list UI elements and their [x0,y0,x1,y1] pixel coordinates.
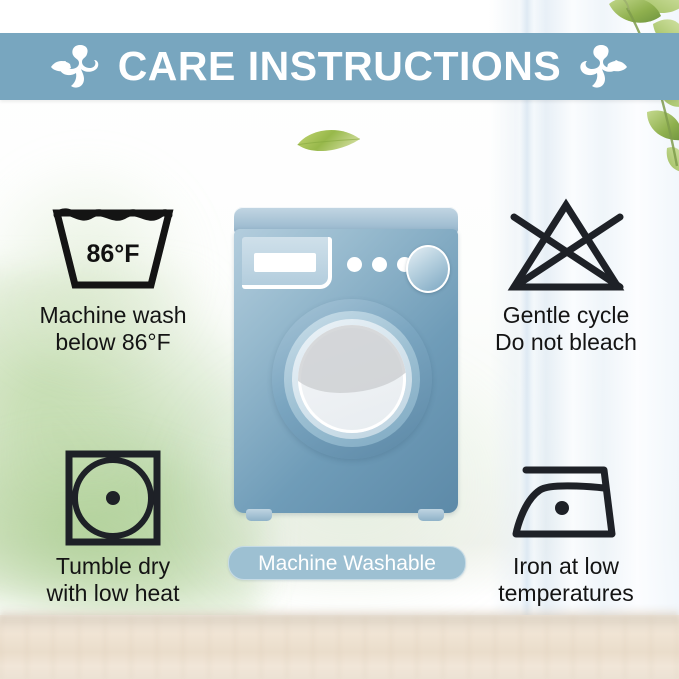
care-instructions-infographic: CARE INSTRUCTIONS 86°F Machine wash belo… [0,0,679,679]
care-item-tumble-dry: Tumble dry with low heat [8,443,218,607]
wash-temperature-value: 86°F [8,240,218,269]
machine-indicator-dot [372,257,387,272]
care-item-do-not-bleach: Gentle cycle Do not bleach [461,192,671,356]
status-badge-label: Machine Washable [258,553,436,574]
care-item-iron-low: Iron at low temperatures [461,443,671,607]
triangle-crossed-bleach-icon [461,192,671,298]
fleur-de-lis-icon-right [571,42,629,92]
banner: CARE INSTRUCTIONS [0,33,679,100]
machine-indicator-dot [347,257,362,272]
care-item-label-iron-low: Iron at low temperatures [461,553,671,607]
wash-tub-icon: 86°F [8,192,218,298]
machine-indicator-lights [347,257,412,272]
machine-door-glass [298,325,406,433]
machine-foot-left [246,509,272,521]
machine-detergent-drawer [254,253,316,272]
machine-detergent-panel [242,237,332,289]
background-wood-grain [0,615,679,679]
care-item-label-do-not-bleach: Gentle cycle Do not bleach [461,302,671,356]
status-badge-machine-washable: Machine Washable [228,546,466,580]
machine-program-dial [406,245,450,293]
washing-machine-illustration [228,207,464,529]
page-title: CARE INSTRUCTIONS [118,46,562,87]
tumble-dry-one-dot-icon [8,443,218,549]
care-item-machine-wash: 86°F Machine wash below 86°F [8,192,218,356]
machine-body [234,229,458,513]
fleur-de-lis-icon-left [50,42,108,92]
decorative-leaves-top-right [535,0,679,205]
care-item-label-machine-wash: Machine wash below 86°F [8,302,218,356]
machine-foot-right [418,509,444,521]
machine-door-glass-shading [298,325,406,393]
iron-one-dot-icon [461,443,671,549]
care-item-label-tumble-dry: Tumble dry with low heat [8,553,218,607]
